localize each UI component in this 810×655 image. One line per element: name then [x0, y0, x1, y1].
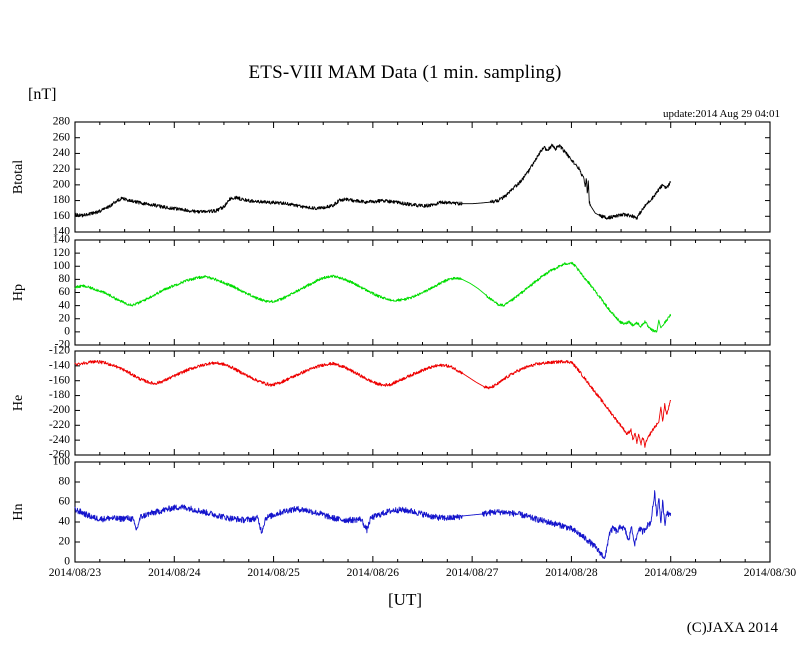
trace-hn: [75, 491, 671, 559]
magnetometer-chart: 140160180200220240260280Btotal-200204060…: [0, 0, 810, 655]
panel-label-hp: Hp: [11, 284, 26, 301]
panel-hn: 020406080100Hn: [11, 456, 770, 568]
trace-hp: [75, 262, 671, 332]
y-tick-label: -140: [49, 359, 70, 371]
y-tick-label: -200: [49, 404, 70, 416]
panel-he: -260-240-220-200-180-160-140-120He: [11, 345, 770, 461]
y-tick-label: -160: [49, 374, 70, 386]
y-tick-label: 40: [59, 299, 71, 311]
x-tick-label: 2014/08/28: [545, 567, 598, 579]
y-tick-label: 280: [53, 116, 71, 128]
y-tick-label: 80: [59, 273, 71, 285]
x-tick-label: 2014/08/26: [347, 567, 400, 579]
x-tick-label: 2014/08/30: [744, 567, 797, 579]
y-tick-label: 0: [64, 326, 70, 338]
y-tick-label: 40: [59, 516, 71, 528]
y-tick-label: 220: [53, 163, 71, 175]
x-tick-label: 2014/08/29: [645, 567, 698, 579]
y-tick-label: 80: [59, 476, 71, 488]
panel-label-hn: Hn: [11, 503, 26, 520]
x-tick-label: 2014/08/25: [247, 567, 300, 579]
panel-frame: [75, 351, 770, 455]
x-tick-label: 2014/08/27: [446, 567, 499, 579]
y-tick-label: -180: [49, 389, 70, 401]
y-tick-label: -220: [49, 419, 70, 431]
y-tick-label: 0: [64, 556, 70, 568]
panel-frame: [75, 462, 770, 562]
y-tick-label: -240: [49, 434, 70, 446]
y-tick-label: 140: [53, 234, 71, 246]
y-tick-label: 60: [59, 496, 71, 508]
copyright-notice: (C)JAXA 2014: [687, 620, 778, 637]
y-tick-label: 100: [53, 456, 71, 468]
chart-page: ETS-VIII MAM Data (1 min. sampling) [nT]…: [0, 0, 810, 655]
y-tick-label: 60: [59, 286, 71, 298]
panel-label-he: He: [11, 395, 26, 411]
y-tick-label: 260: [53, 131, 71, 143]
panel-hp: -20020406080100120140Hp: [11, 234, 770, 351]
y-tick-label: 120: [53, 247, 71, 259]
y-tick-label: 20: [59, 312, 71, 324]
y-tick-label: 160: [53, 210, 71, 222]
y-tick-label: 240: [53, 147, 71, 159]
panel-frame: [75, 122, 770, 232]
x-tick-label: 2014/08/24: [148, 567, 201, 579]
y-tick-label: 180: [53, 194, 71, 206]
x-axis-label: [UT]: [0, 590, 810, 610]
y-tick-label: 100: [53, 260, 71, 272]
trace-btotal: [75, 144, 671, 219]
panel-btotal: 140160180200220240260280Btotal: [11, 116, 770, 238]
trace-he: [75, 360, 671, 447]
y-tick-label: -120: [49, 345, 70, 357]
y-tick-label: 200: [53, 178, 71, 190]
y-tick-label: 20: [59, 536, 71, 548]
x-tick-label: 2014/08/23: [49, 567, 102, 579]
panel-label-btotal: Btotal: [11, 160, 26, 194]
